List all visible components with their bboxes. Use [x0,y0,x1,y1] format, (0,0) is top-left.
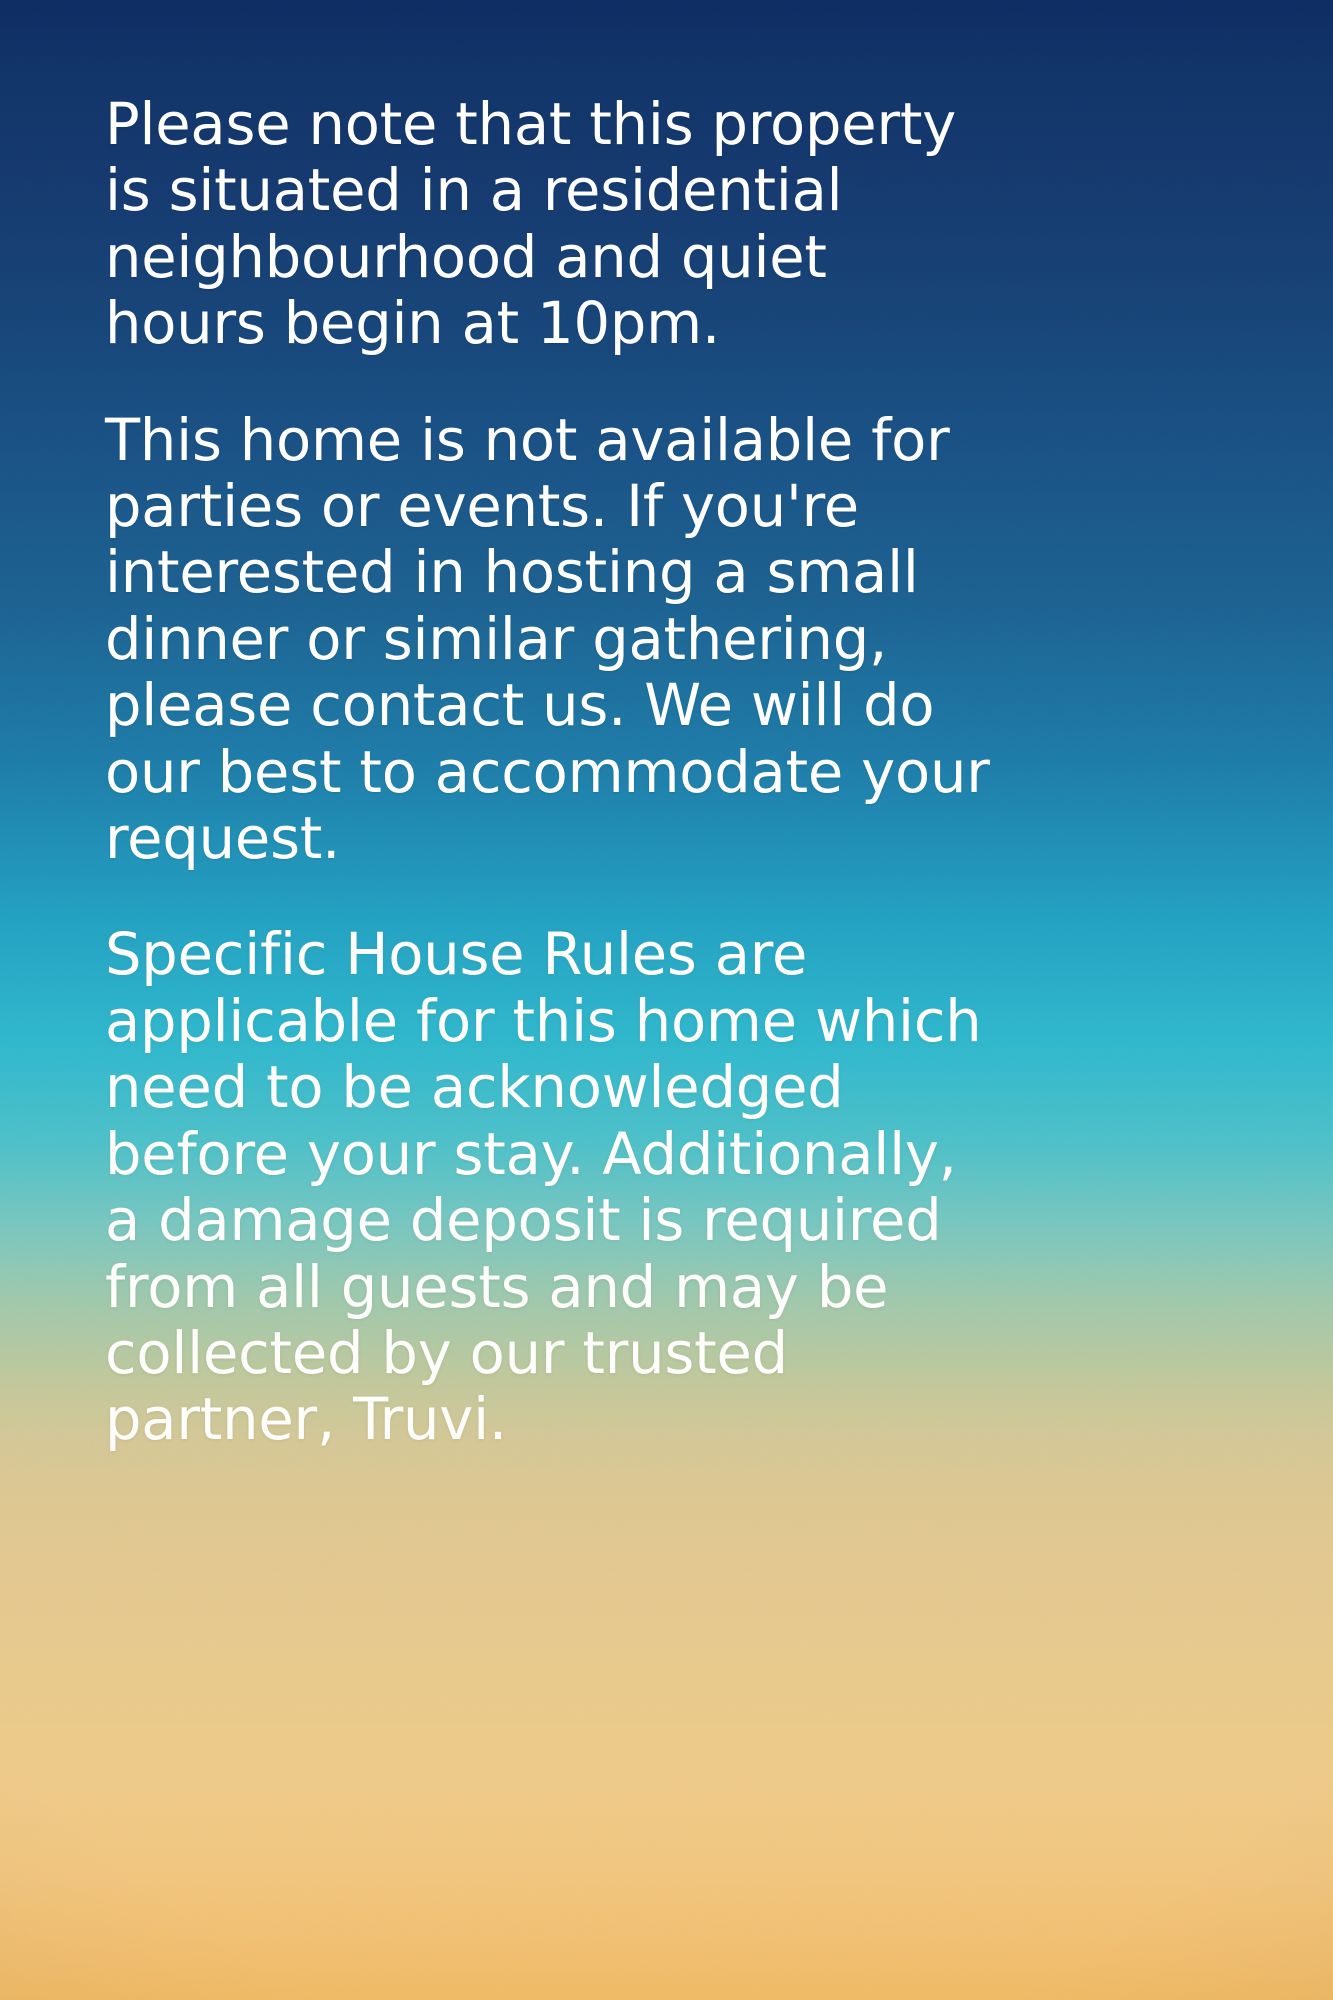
house-rules-copy: Please note that this property is situat… [105,92,1275,1454]
paragraph-no-parties: This home is not available for parties o… [105,408,1275,873]
house-rules-poster: Please note that this property is situat… [0,0,1333,2000]
paragraph-quiet-hours: Please note that this property is situat… [105,92,1275,358]
paragraph-house-rules-deposit: Specific House Rules are applicable for … [105,922,1275,1453]
